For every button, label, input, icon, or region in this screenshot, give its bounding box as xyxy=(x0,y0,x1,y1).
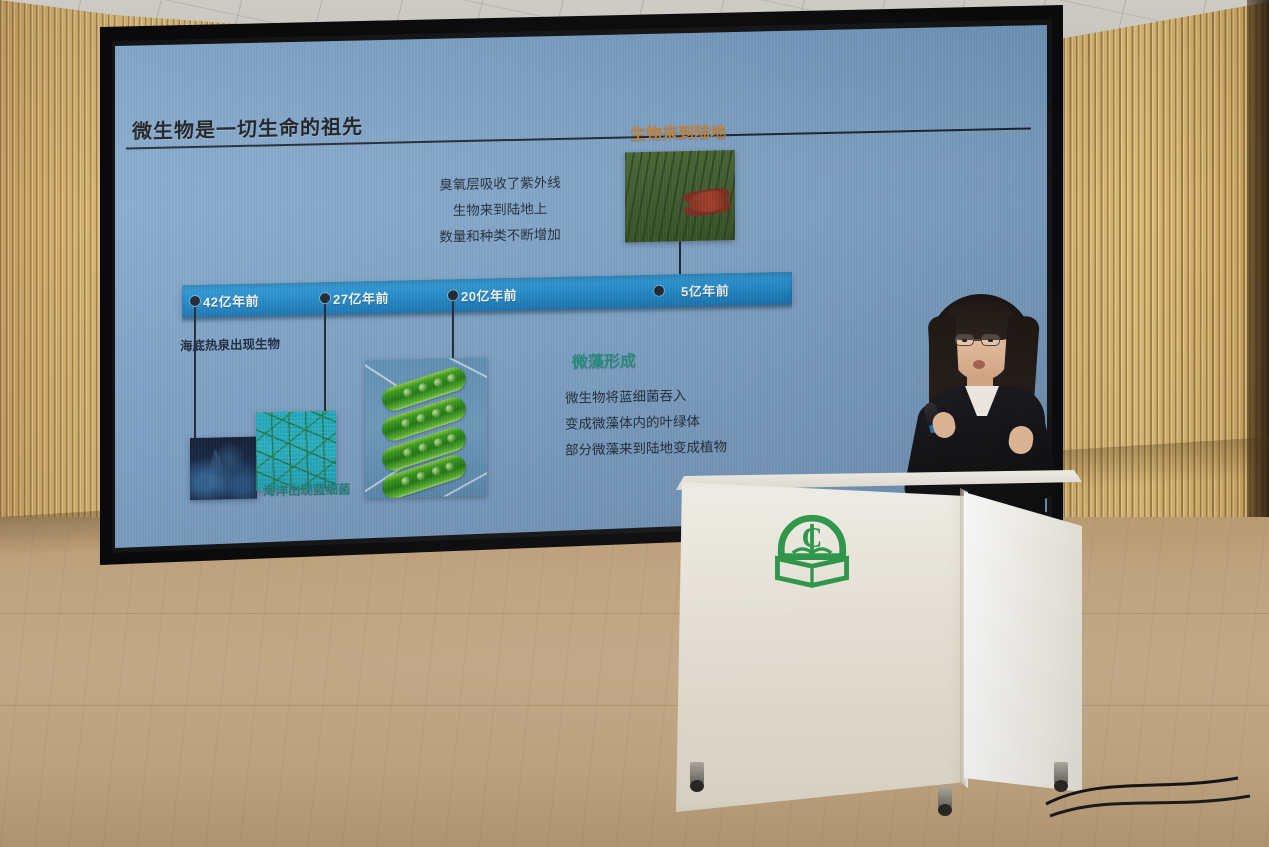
timeline-item-4: 5亿年前 xyxy=(654,273,729,307)
floor-cables xyxy=(1040,770,1269,847)
paragraph-top-line-3: 数量和种类不断增加 xyxy=(395,221,605,252)
paragraph-microalgae: 微生物将蓝细菌吞入 变成微藻体内的叶绿体 部分微藻来到陆地变成植物 xyxy=(565,381,795,464)
land-arthropod-photo xyxy=(625,150,735,242)
caster-wheel xyxy=(690,762,704,784)
school-emblem: C xyxy=(764,498,860,596)
timeline-item-2: 27亿年前 xyxy=(320,281,389,315)
timeline-dot-icon xyxy=(654,286,664,296)
caster-wheel xyxy=(938,786,952,808)
paragraph-ozone-layer: 臭氧层吸收了紫外线 生物来到陆地上 数量和种类不断增加 xyxy=(395,169,605,252)
hydrothermal-vent-photo xyxy=(190,437,257,500)
timeline-label: 42亿年前 xyxy=(203,290,259,310)
timeline-label: 20亿年前 xyxy=(461,284,517,304)
paragraph-bottom-line-3: 部分微藻来到陆地变成植物 xyxy=(565,433,795,464)
timeline-item-3: 20亿年前 xyxy=(448,278,517,312)
leader-line-algae xyxy=(452,301,454,363)
glasses-bridge xyxy=(974,339,981,341)
leader-line-land xyxy=(679,241,681,274)
timeline-label: 27亿年前 xyxy=(333,287,389,307)
caption-cyanobacteria: 海洋出现蓝细菌 xyxy=(263,479,351,500)
heading-life-onto-land: 生物来到陆地 xyxy=(630,118,726,144)
timeline-dot-icon xyxy=(190,296,200,306)
slide-title: 微生物是一切生命的祖先 xyxy=(132,110,363,144)
lectern: C xyxy=(676,470,1082,825)
microalgae-photo xyxy=(365,358,487,499)
heading-microalgae-formation: 微藻形成 xyxy=(572,347,636,372)
mouth xyxy=(973,360,985,369)
lecture-hall-scene: 微生物是一切生命的祖先 生物来到陆地 臭氧层吸收了紫外线 生物来到陆地上 数量和… xyxy=(0,0,1269,847)
timeline-label: 5亿年前 xyxy=(681,280,729,300)
eye-right xyxy=(988,339,993,342)
leader-line-vent xyxy=(194,307,196,445)
timeline-dot-icon xyxy=(320,293,330,303)
leader-line-cyano xyxy=(324,304,326,416)
timeline-item-1: 42亿年前 xyxy=(190,284,259,318)
timeline-bar: 42亿年前 27亿年前 20亿年前 5亿年前 xyxy=(182,272,792,318)
caption-hydrothermal-vent: 海底热泉出现生物 xyxy=(180,333,280,354)
timeline-dot-icon xyxy=(448,290,458,300)
eye-left xyxy=(962,339,967,342)
